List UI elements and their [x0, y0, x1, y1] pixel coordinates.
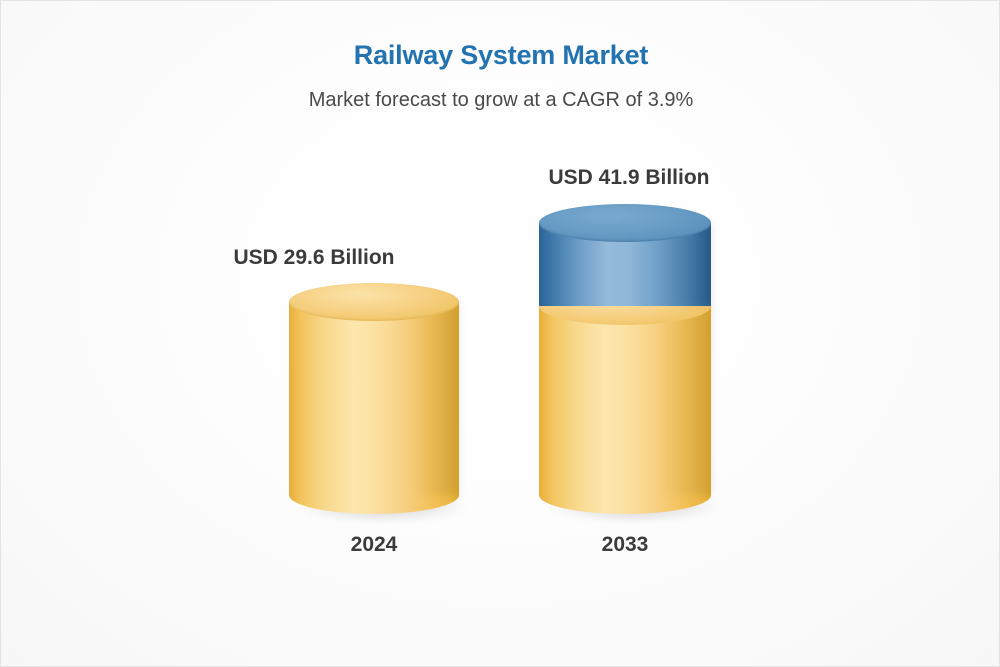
bar-value-label-2033: USD 41.9 Billion — [469, 166, 789, 190]
chart-canvas: Railway System Market Market forecast to… — [0, 0, 1000, 667]
bar-value-label-2024: USD 29.6 Billion — [154, 246, 474, 270]
chart-subtitle: Market forecast to grow at a CAGR of 3.9… — [1, 89, 1000, 112]
bar-2033[interactable] — [539, 204, 711, 514]
category-label-2033: 2033 — [465, 533, 785, 557]
cylinder-side — [289, 302, 459, 495]
cylinder-segment-base — [539, 306, 711, 495]
chart-title: Railway System Market — [1, 40, 1000, 71]
cylinder-top-ellipse — [289, 283, 459, 321]
cylinder-top-ellipse — [539, 204, 711, 242]
bar-2024[interactable] — [289, 283, 459, 514]
